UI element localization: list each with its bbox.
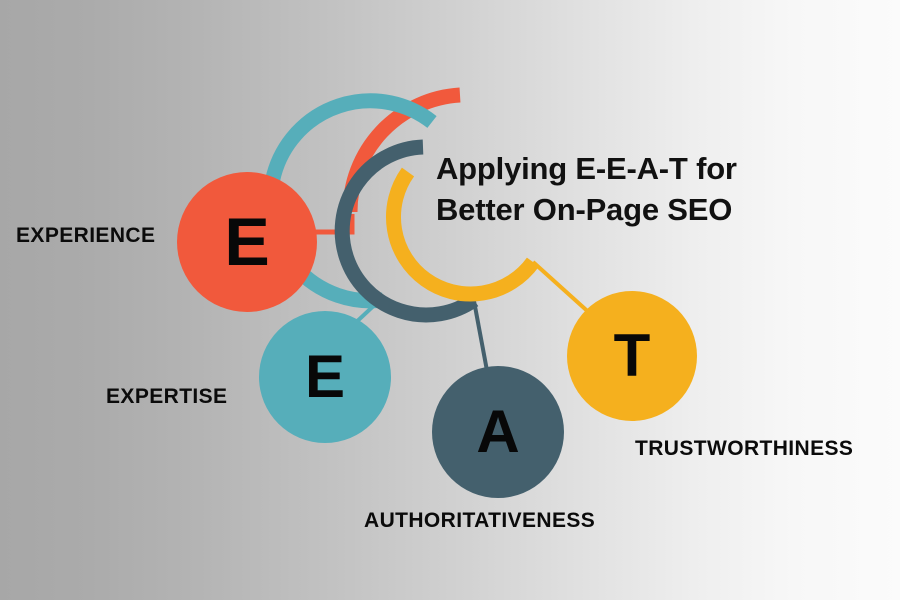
label-expertise: EXPERTISE — [106, 385, 227, 409]
page-title-line-1: Applying E-E-A-T for — [436, 149, 816, 190]
page-title: Applying E-E-A-T for Better On-Page SEO — [436, 149, 816, 231]
node-circle-experience[interactable] — [177, 172, 317, 312]
node-circle-trustworthiness[interactable] — [567, 291, 697, 421]
label-trustworthiness: TRUSTWORTHINESS — [635, 437, 853, 461]
node-circle-authoritativeness[interactable] — [432, 366, 564, 498]
connector-authoritativeness — [474, 301, 488, 376]
page-title-line-2: Better On-Page SEO — [436, 190, 816, 231]
label-authoritativeness: AUTHORITATIVENESS — [364, 509, 595, 533]
node-circle-expertise[interactable] — [259, 311, 391, 443]
infographic-canvas: E E A T EXPERIENCE EXPERTISE AUTHORITATI… — [0, 0, 900, 600]
label-experience: EXPERIENCE — [16, 224, 155, 248]
